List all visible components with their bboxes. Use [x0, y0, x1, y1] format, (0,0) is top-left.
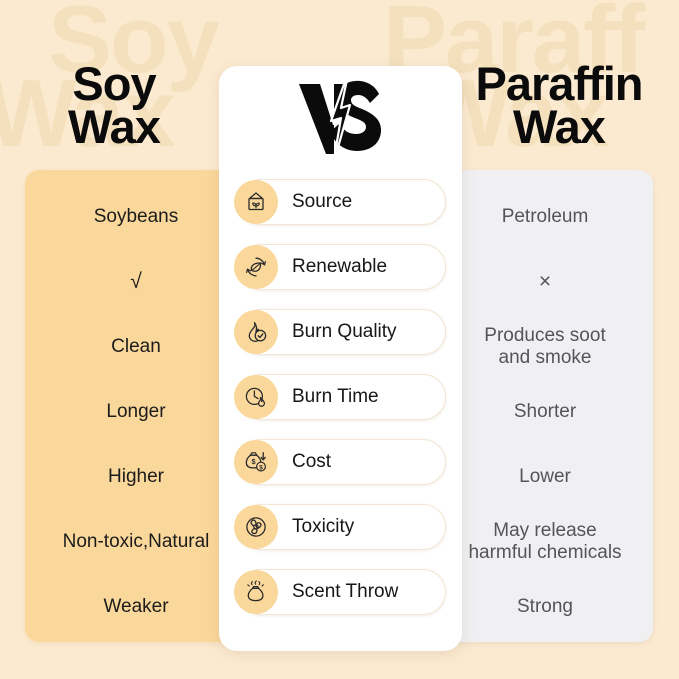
feature-row: Renewable [222, 234, 459, 299]
soy-value-toxicity: Non-toxic,Natural [25, 509, 247, 574]
feature-pill-burn-quality[interactable]: Burn Quality [238, 309, 446, 355]
scent-sack-icon [234, 570, 278, 614]
feature-pill-scent-throw[interactable]: Scent Throw [238, 569, 446, 615]
soy-value-source: Soybeans [25, 184, 247, 249]
feature-row: Burn Quality [222, 299, 459, 364]
value-text: Weaker [31, 596, 241, 617]
money-bag-down-icon [234, 440, 278, 484]
soy-value-scent-throw: Weaker [25, 574, 247, 639]
heading-soy-wax-line1: Soy [8, 62, 220, 105]
value-text: Petroleum [443, 206, 647, 227]
feature-label: Renewable [292, 256, 387, 278]
feature-label: Cost [292, 451, 331, 473]
paraffin-value-renewable: × [437, 249, 653, 314]
feature-pill-source[interactable]: Source [238, 179, 446, 225]
paraffin-value-cost: Lower [437, 444, 653, 509]
value-text: Soybeans [31, 206, 241, 227]
feature-pill-renewable[interactable]: Renewable [238, 244, 446, 290]
value-text: Higher [31, 466, 241, 487]
value-text: × [443, 270, 647, 294]
feature-pill-toxicity[interactable]: Toxicity [238, 504, 446, 550]
paraffin-wax-value-column: Petroleum×Produces sootand smokeShorterL… [437, 170, 653, 642]
heading-soy-wax: Soy Wax [8, 62, 220, 148]
vs-logo [219, 66, 462, 169]
paraffin-value-burn-quality: Produces sootand smoke [437, 314, 653, 379]
heading-paraffin-wax: Paraffin Wax [441, 62, 677, 148]
feature-label: Source [292, 191, 352, 213]
value-text: Clean [31, 336, 241, 357]
soy-wax-value-column: Soybeans√CleanLongerHigherNon-toxic,Natu… [25, 170, 247, 642]
sack-sprout-icon [234, 180, 278, 224]
value-text: Non-toxic,Natural [31, 531, 241, 552]
heading-soy-wax-line2: Wax [8, 105, 220, 148]
feature-row: Source [222, 169, 459, 234]
feature-label: Burn Quality [292, 321, 397, 343]
value-text: May releaseharmful chemicals [443, 520, 647, 563]
value-text: Shorter [443, 401, 647, 422]
heading-paraffin-wax-line2: Wax [441, 105, 677, 148]
feature-pill-list: SourceRenewableBurn QualityBurn TimeCost… [219, 169, 462, 624]
leaf-recycle-icon [234, 245, 278, 289]
value-text: Lower [443, 466, 647, 487]
soy-value-burn-quality: Clean [25, 314, 247, 379]
value-text: Longer [31, 401, 241, 422]
clock-flame-icon [234, 375, 278, 419]
paraffin-value-scent-throw: Strong [437, 574, 653, 639]
soy-value-burn-time: Longer [25, 379, 247, 444]
paraffin-value-source: Petroleum [437, 184, 653, 249]
feature-pill-burn-time[interactable]: Burn Time [238, 374, 446, 420]
feature-label: Toxicity [292, 516, 354, 538]
soy-value-cost: Higher [25, 444, 247, 509]
paraffin-value-toxicity: May releaseharmful chemicals [437, 509, 653, 574]
value-text: Produces sootand smoke [443, 325, 647, 368]
feature-row: Toxicity [222, 494, 459, 559]
feature-row: Burn Time [222, 364, 459, 429]
paraffin-value-burn-time: Shorter [437, 379, 653, 444]
value-text: Strong [443, 596, 647, 617]
feature-row: Scent Throw [222, 559, 459, 624]
value-text: √ [31, 270, 241, 294]
feature-row: Cost [222, 429, 459, 494]
soy-value-renewable: √ [25, 249, 247, 314]
flame-check-icon [234, 310, 278, 354]
radiation-icon [234, 505, 278, 549]
heading-paraffin-wax-line1: Paraffin [441, 62, 677, 105]
feature-label: Burn Time [292, 386, 379, 408]
comparison-center-card: SourceRenewableBurn QualityBurn TimeCost… [219, 66, 462, 651]
feature-label: Scent Throw [292, 581, 398, 603]
feature-pill-cost[interactable]: Cost [238, 439, 446, 485]
